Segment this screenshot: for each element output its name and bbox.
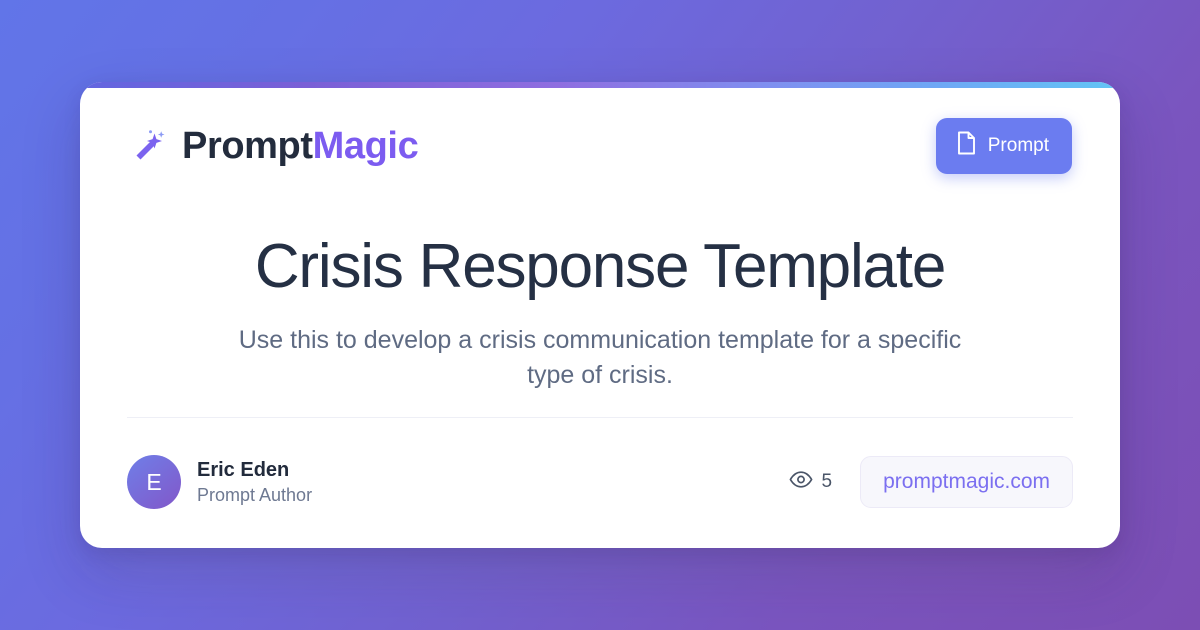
brand-name-second: Magic — [313, 125, 419, 167]
magic-wand-icon — [128, 124, 168, 169]
brand-name-first: Prompt — [182, 125, 313, 167]
view-count-value: 5 — [822, 471, 833, 493]
prompt-button[interactable]: Prompt — [936, 118, 1072, 174]
view-count: 5 — [789, 471, 833, 494]
document-icon — [956, 131, 977, 161]
author-text: Eric Eden Prompt Author — [197, 459, 312, 506]
author-block: E Eric Eden Prompt Author — [127, 455, 312, 509]
author-name: Eric Eden — [197, 459, 312, 482]
avatar: E — [127, 455, 181, 509]
card-body: Crisis Response Template Use this to dev… — [80, 232, 1120, 392]
eye-icon — [789, 471, 813, 494]
brand-name: PromptMagic — [182, 127, 418, 165]
page-subtitle: Use this to develop a crisis communicati… — [215, 323, 985, 392]
footer-divider — [127, 417, 1073, 418]
author-role: Prompt Author — [197, 485, 312, 506]
domain-badge[interactable]: promptmagic.com — [860, 456, 1073, 508]
card-header: PromptMagic Prompt — [80, 88, 1120, 204]
brand-logo[interactable]: PromptMagic — [128, 124, 418, 169]
prompt-button-label: Prompt — [988, 135, 1049, 157]
prompt-card: PromptMagic Prompt Crisis Response Templ… — [80, 82, 1120, 548]
page-title: Crisis Response Template — [140, 232, 1060, 301]
footer-right: 5 promptmagic.com — [789, 456, 1073, 508]
card-footer: E Eric Eden Prompt Author 5 promptmagic.… — [127, 447, 1073, 517]
